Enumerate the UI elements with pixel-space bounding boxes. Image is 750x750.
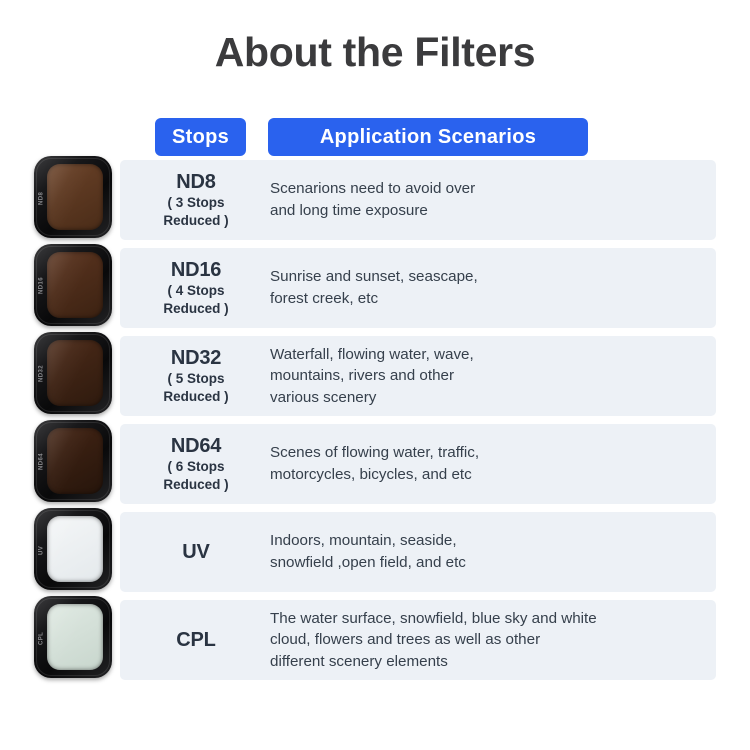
filter-product-image: UV [34, 508, 112, 590]
stops-reduction-line2: Reduced ) [163, 477, 228, 494]
filter-product-image: CPL [34, 596, 112, 678]
filter-glass [47, 340, 103, 406]
scenario-cell: Scenarions need to avoid overand long ti… [270, 160, 710, 240]
stops-reduction-line2: Reduced ) [163, 301, 228, 318]
filter-product-image: ND64 [34, 420, 112, 502]
table-header: Stops Application Scenarios [0, 118, 750, 156]
filter-glass [47, 164, 103, 230]
header-pill-stops: Stops [155, 118, 246, 156]
scenario-line: The water surface, snowfield, blue sky a… [270, 608, 710, 630]
filter-frame: UV [34, 508, 112, 590]
table-row: ND32ND32( 5 StopsReduced )Waterfall, flo… [0, 336, 750, 416]
filter-frame: ND32 [34, 332, 112, 414]
scenario-cell: Waterfall, flowing water, wave,mountains… [270, 336, 710, 416]
stops-reduction-line2: Reduced ) [163, 213, 228, 230]
filter-product-image: ND32 [34, 332, 112, 414]
scenario-cell: Indoors, mountain, seaside,snowfield ,op… [270, 512, 710, 592]
filter-bezel-label: ND64 [36, 442, 47, 482]
table-row: UVUVIndoors, mountain, seaside,snowfield… [0, 512, 750, 592]
scenario-cell: The water surface, snowfield, blue sky a… [270, 600, 710, 680]
stops-cell: ND32( 5 StopsReduced ) [124, 336, 268, 416]
filter-glass [47, 428, 103, 494]
page-title: About the Filters [0, 0, 750, 77]
filter-frame: ND8 [34, 156, 112, 238]
scenario-line: various scenery [270, 387, 710, 409]
filter-bezel-label: UV [36, 530, 47, 570]
header-pill-scenarios: Application Scenarios [268, 118, 588, 156]
stops-cell: ND16( 4 StopsReduced ) [124, 248, 268, 328]
filter-name: ND64 [171, 435, 221, 458]
stops-reduction-line2: Reduced ) [163, 389, 228, 406]
filter-glass [47, 252, 103, 318]
stops-reduction-line1: ( 5 Stops [167, 371, 224, 388]
table-row: ND64ND64( 6 StopsReduced )Scenes of flow… [0, 424, 750, 504]
scenario-line: Sunrise and sunset, seascape, [270, 266, 710, 288]
scenario-line: Indoors, mountain, seaside, [270, 530, 710, 552]
stops-cell: UV [124, 512, 268, 592]
filter-glass [47, 604, 103, 670]
filter-frame: ND64 [34, 420, 112, 502]
scenario-cell: Scenes of flowing water, traffic,motorcy… [270, 424, 710, 504]
scenario-line: and long time exposure [270, 200, 710, 222]
table-row: ND8ND8( 3 StopsReduced )Scenarions need … [0, 160, 750, 240]
scenario-line: mountains, rivers and other [270, 365, 710, 387]
filter-name: ND16 [171, 259, 221, 282]
filter-glass [47, 516, 103, 582]
filter-bezel-label: ND32 [36, 354, 47, 394]
table-row: ND16ND16( 4 StopsReduced )Sunrise and su… [0, 248, 750, 328]
filter-name: ND32 [171, 347, 221, 370]
scenario-cell: Sunrise and sunset, seascape,forest cree… [270, 248, 710, 328]
filter-frame: CPL [34, 596, 112, 678]
filter-frame: ND16 [34, 244, 112, 326]
stops-cell: ND8( 3 StopsReduced ) [124, 160, 268, 240]
table-row: CPLCPLThe water surface, snowfield, blue… [0, 600, 750, 680]
stops-cell: ND64( 6 StopsReduced ) [124, 424, 268, 504]
stops-reduction-line1: ( 6 Stops [167, 459, 224, 476]
scenario-line: cloud, flowers and trees as well as othe… [270, 629, 710, 651]
scenario-line: different scenery elements [270, 651, 710, 673]
stops-cell: CPL [124, 600, 268, 680]
scenario-line: Waterfall, flowing water, wave, [270, 344, 710, 366]
filter-name: ND8 [176, 171, 215, 194]
filter-bezel-label: ND16 [36, 266, 47, 306]
scenario-line: forest creek, etc [270, 288, 710, 310]
filter-product-image: ND16 [34, 244, 112, 326]
filter-bezel-label: ND8 [36, 178, 47, 218]
filter-name: CPL [176, 629, 215, 652]
filter-product-image: ND8 [34, 156, 112, 238]
stops-reduction-line1: ( 4 Stops [167, 283, 224, 300]
filter-name: UV [182, 541, 209, 564]
filter-bezel-label: CPL [36, 618, 47, 658]
scenario-line: motorcycles, bicycles, and etc [270, 464, 710, 486]
scenario-line: snowfield ,open field, and etc [270, 552, 710, 574]
stops-reduction-line1: ( 3 Stops [167, 195, 224, 212]
scenario-line: Scenarions need to avoid over [270, 178, 710, 200]
filters-table: ND8ND8( 3 StopsReduced )Scenarions need … [0, 160, 750, 688]
scenario-line: Scenes of flowing water, traffic, [270, 442, 710, 464]
